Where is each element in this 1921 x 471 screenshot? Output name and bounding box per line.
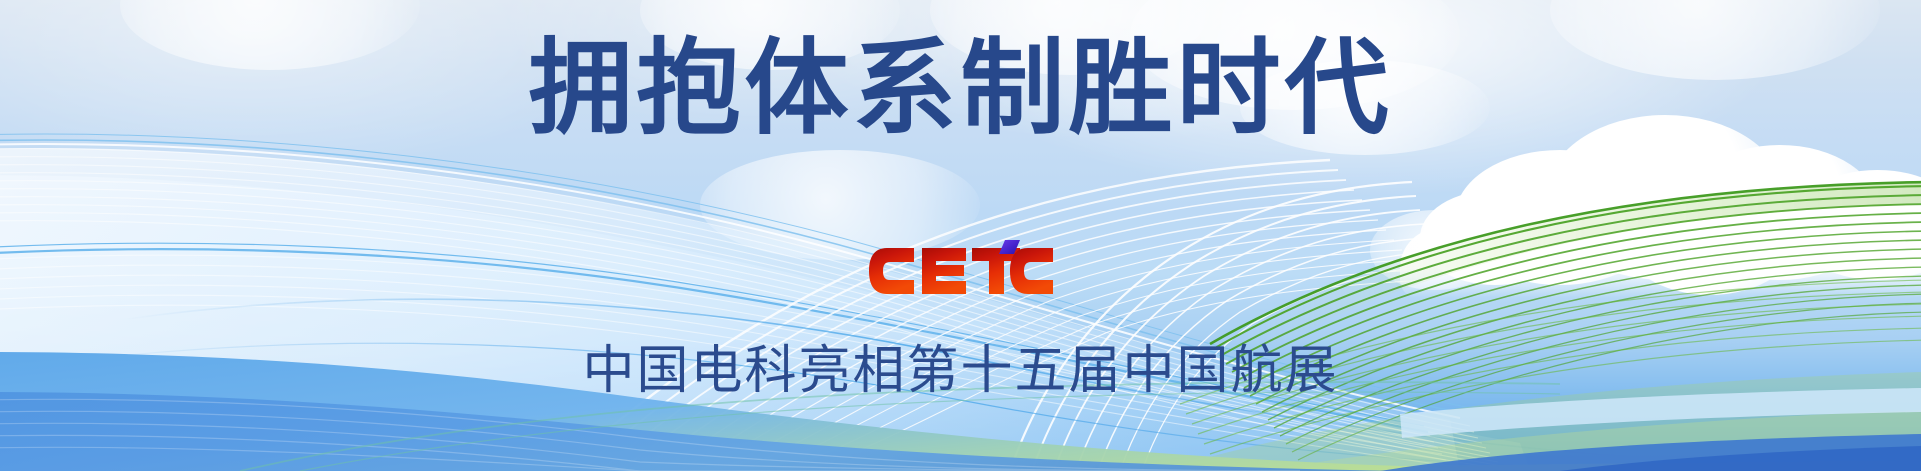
haze-cloud: [120, 0, 420, 70]
cumulus-cloud: [1545, 115, 1785, 280]
haze-cloud: [1130, 0, 1460, 110]
haze-cloud: [1550, 0, 1880, 80]
cumulus-cloud: [1790, 170, 1921, 280]
sky-gradient: [0, 0, 1921, 471]
ribbon-wave-artwork: [0, 0, 1921, 471]
page-subtitle: 中国电科亮相第十五届中国航展: [0, 342, 1921, 402]
cetc-logo: [868, 240, 1054, 302]
cumulus-cloud-base: [1400, 228, 1921, 298]
cumulus-cloud: [1620, 175, 1800, 295]
cumulus-cloud: [1370, 210, 1500, 290]
cumulus-cloud: [1455, 150, 1665, 285]
page-title: 拥抱体系制胜时代: [0, 34, 1921, 144]
cumulus-cloud: [1680, 145, 1880, 280]
haze-cloud: [930, 0, 1210, 75]
haze-cloud: [640, 0, 900, 70]
logo-accent-icon: [999, 240, 1020, 254]
cumulus-cloud: [1420, 190, 1570, 285]
cetc-airshow-banner: 拥抱体系制胜时代: [0, 0, 1921, 471]
haze-cloud: [1240, 60, 1490, 155]
haze-cloud: [700, 150, 980, 260]
